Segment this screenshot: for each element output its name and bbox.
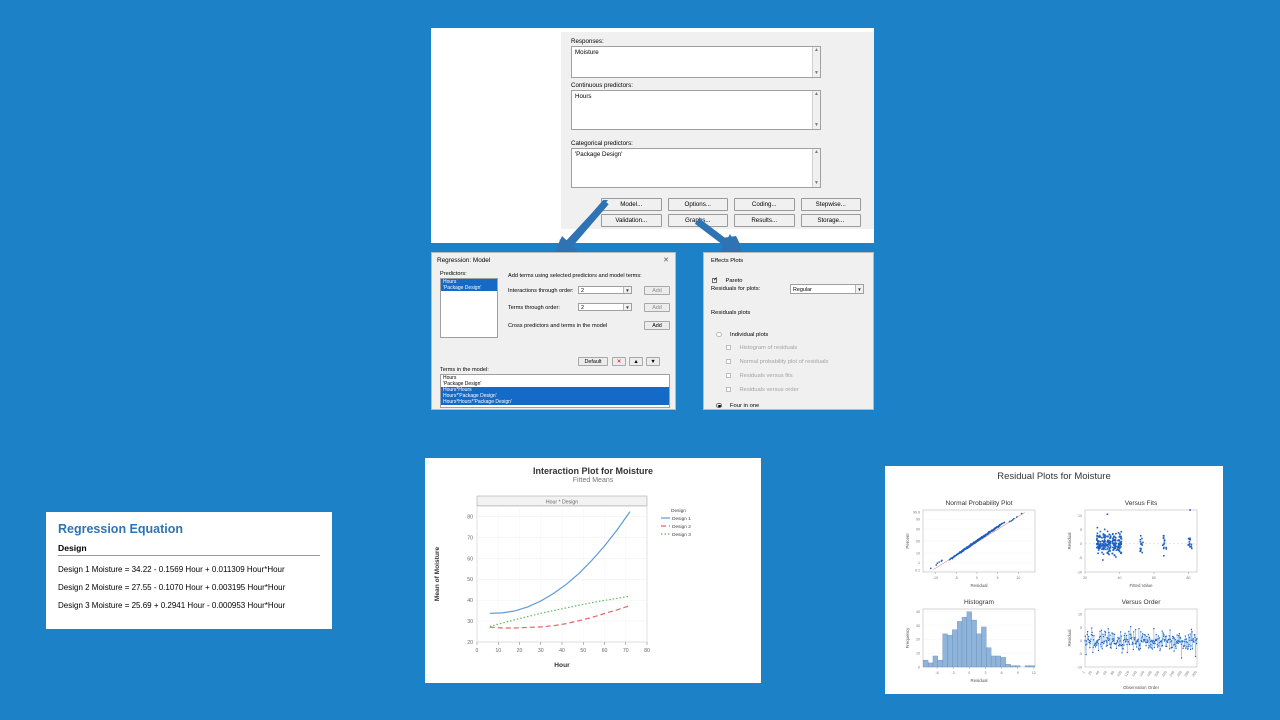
svg-text:Normal Probability Plot: Normal Probability Plot <box>945 500 1012 507</box>
svg-text:20: 20 <box>1087 670 1093 676</box>
svg-text:-10: -10 <box>933 576 938 580</box>
cross-predictors-label: Cross predictors and terms in the model <box>508 323 607 329</box>
svg-text:80: 80 <box>644 648 650 654</box>
responses-label: Responses: <box>571 38 821 45</box>
regression-equation-line: Design 3 Moisture = 25.69 + 0.2941 Hour … <box>58 601 320 610</box>
svg-text:120: 120 <box>1124 670 1131 677</box>
predictor-item-package-design[interactable]: 'Package Design' <box>441 285 497 291</box>
add-interactions-button[interactable]: Add <box>644 286 670 295</box>
svg-text:-5: -5 <box>1079 652 1082 656</box>
svg-text:30: 30 <box>467 619 473 625</box>
svg-text:20: 20 <box>517 648 523 654</box>
stepwise-button[interactable]: Stepwise... <box>801 198 862 211</box>
svg-text:Percent: Percent <box>905 533 910 549</box>
svg-text:180: 180 <box>1146 670 1153 677</box>
terms-through-order-select[interactable]: 2 ▼ <box>578 303 632 311</box>
interactions-through-order-label: Interactions through order: <box>508 288 574 294</box>
regression-equation-line: Design 1 Moisture = 34.22 - 0.1569 Hour … <box>58 565 320 574</box>
svg-text:-3: -3 <box>952 671 955 675</box>
svg-text:260: 260 <box>1176 670 1183 677</box>
regression-equation-subheader: Design <box>58 543 320 556</box>
svg-text:60: 60 <box>1102 670 1108 676</box>
regression-model-dialog: Regression: Model ✕ Predictors: Hours 'P… <box>431 252 676 410</box>
svg-text:40: 40 <box>559 648 565 654</box>
arrow-model-to-model-dialog <box>530 198 610 260</box>
svg-text:Fitted Value: Fitted Value <box>1129 583 1153 588</box>
svg-text:60: 60 <box>1152 576 1156 580</box>
svg-text:200: 200 <box>1154 670 1161 677</box>
regression-equation-card: Regression Equation Design Design 1 Mois… <box>42 512 332 629</box>
svg-text:Design: Design <box>671 508 686 514</box>
interactions-through-order-value: 2 <box>581 288 584 294</box>
svg-text:30: 30 <box>538 648 544 654</box>
svg-text:0: 0 <box>968 671 970 675</box>
regression-model-dialog-title: Regression: Model <box>437 257 490 264</box>
svg-text:Hour * Design: Hour * Design <box>546 500 578 506</box>
residual-plots-title: Residual Plots for Moisture <box>885 471 1223 482</box>
svg-text:1: 1 <box>1081 670 1085 674</box>
interaction-plot-subtitle: Fitted Means <box>425 477 761 484</box>
add-cross-button[interactable]: Add <box>644 321 670 330</box>
svg-text:40: 40 <box>916 610 920 614</box>
svg-text:5: 5 <box>1080 528 1082 532</box>
svg-text:99: 99 <box>916 517 920 521</box>
pareto-checkbox-row[interactable]: Pareto <box>712 269 743 287</box>
svg-text:10: 10 <box>495 648 501 654</box>
svg-text:60: 60 <box>602 648 608 654</box>
chevron-down-icon[interactable]: ▼ <box>623 287 631 293</box>
chevron-down-icon[interactable]: ▼ <box>623 304 631 310</box>
responses-field-group: Responses: Moisture ▲ ▼ <box>571 38 821 78</box>
responses-scrollbar[interactable]: ▲ ▼ <box>812 47 820 77</box>
svg-text:Versus Order: Versus Order <box>1122 599 1162 606</box>
svg-text:140: 140 <box>1131 670 1138 677</box>
svg-text:-5: -5 <box>1079 556 1082 560</box>
svg-text:Frequency: Frequency <box>905 627 910 649</box>
svg-text:20: 20 <box>1083 576 1087 580</box>
svg-text:0: 0 <box>476 648 479 654</box>
regression-equation-title: Regression Equation <box>58 522 320 536</box>
continuous-predictors-field-group: Continuous predictors: Hours ▲ ▼ <box>571 82 821 130</box>
scroll-up-icon[interactable]: ▲ <box>814 149 819 156</box>
residual-plots-panel: Residual Plots for Moisture Normal Proba… <box>885 466 1223 694</box>
pareto-label: Pareto <box>725 278 742 284</box>
svg-text:5: 5 <box>997 576 999 580</box>
svg-text:50: 50 <box>916 539 920 543</box>
svg-text:30: 30 <box>916 624 920 628</box>
svg-text:70: 70 <box>623 648 629 654</box>
svg-text:12: 12 <box>1032 671 1036 675</box>
add-terms-order-button[interactable]: Add <box>644 303 670 312</box>
predictors-label: Predictors: <box>440 271 467 277</box>
svg-text:240: 240 <box>1169 670 1176 677</box>
svg-text:10: 10 <box>1016 576 1020 580</box>
residual-plots-svg: Normal Probability Plot0.111050909999.9-… <box>885 484 1223 692</box>
options-button[interactable]: Options... <box>668 198 729 211</box>
svg-text:Residual: Residual <box>970 583 987 588</box>
svg-text:Residual: Residual <box>1067 629 1072 646</box>
residuals-for-plots-value: Regular <box>793 287 812 293</box>
regression-equation-line: Design 2 Moisture = 27.55 - 0.1070 Hour … <box>58 583 320 592</box>
svg-text:70: 70 <box>467 535 473 541</box>
svg-text:10: 10 <box>916 651 920 655</box>
svg-text:60: 60 <box>467 556 473 562</box>
interaction-plot-title: Interaction Plot for Moisture <box>425 466 761 476</box>
terms-in-model-listbox[interactable]: Hours 'Package Design' Hours*Hours Hours… <box>440 374 670 408</box>
residuals-for-plots-select[interactable]: Regular ▼ <box>790 284 864 294</box>
checkbox-icon <box>726 387 731 392</box>
continuous-predictors-value: Hours <box>575 93 592 100</box>
radio-icon[interactable] <box>716 403 722 409</box>
effects-plots-label: Effects Plots <box>711 258 743 264</box>
close-icon[interactable]: ✕ <box>663 256 669 264</box>
svg-text:Design 1: Design 1 <box>672 516 691 522</box>
four-in-one-radio-row[interactable]: Four in one <box>716 394 759 412</box>
svg-text:Versus Fits: Versus Fits <box>1125 500 1158 507</box>
svg-text:Hour: Hour <box>554 662 570 669</box>
add-terms-label: Add terms using selected predictors and … <box>508 273 642 279</box>
svg-text:50: 50 <box>580 648 586 654</box>
svg-text:-6: -6 <box>935 671 938 675</box>
term-item-hours-hours-package-design[interactable]: Hours*Hours*'Package Design' <box>441 399 669 405</box>
svg-text:160: 160 <box>1139 670 1146 677</box>
terms-through-order-value: 2 <box>581 305 584 311</box>
move-up-button[interactable]: ▲ <box>629 357 643 366</box>
svg-text:Design 2: Design 2 <box>672 524 691 530</box>
svg-text:3: 3 <box>984 671 986 675</box>
scroll-down-icon[interactable]: ▼ <box>814 122 819 129</box>
svg-text:Observation Order: Observation Order <box>1123 685 1160 690</box>
scroll-down-icon[interactable]: ▼ <box>814 70 819 77</box>
validation-button[interactable]: Validation... <box>601 214 662 227</box>
delete-term-button[interactable]: ✕ <box>612 357 626 366</box>
svg-text:80: 80 <box>1186 576 1190 580</box>
svg-text:5: 5 <box>1080 626 1082 630</box>
scroll-up-icon[interactable]: ▲ <box>814 91 819 98</box>
svg-text:Design 3: Design 3 <box>672 532 691 538</box>
svg-text:0: 0 <box>1080 639 1082 643</box>
categorical-predictors-scrollbar[interactable]: ▲ ▼ <box>812 149 820 187</box>
svg-text:Residual: Residual <box>1067 532 1072 549</box>
regression-dialog: Responses: Moisture ▲ ▼ Continuous predi… <box>431 28 874 243</box>
scroll-up-icon[interactable]: ▲ <box>814 47 819 54</box>
svg-text:0: 0 <box>1080 542 1082 546</box>
continuous-predictors-scrollbar[interactable]: ▲ ▼ <box>812 91 820 129</box>
categorical-predictors-input[interactable]: 'Package Design' ▲ ▼ <box>571 148 821 188</box>
svg-text:9: 9 <box>1017 671 1019 675</box>
svg-text:20: 20 <box>916 638 920 642</box>
svg-text:50: 50 <box>467 577 473 583</box>
scroll-down-icon[interactable]: ▼ <box>814 180 819 187</box>
continuous-predictors-input[interactable]: Hours ▲ ▼ <box>571 90 821 130</box>
svg-text:40: 40 <box>1117 576 1121 580</box>
chevron-down-icon[interactable]: ▼ <box>855 285 863 293</box>
interaction-plot-panel: Interaction Plot for Moisture Fitted Mea… <box>425 458 761 683</box>
svg-text:Mean of Moisture: Mean of Moisture <box>434 547 441 602</box>
svg-text:80: 80 <box>467 514 473 520</box>
interaction-plot-svg: Hour * Design203040506070800102030405060… <box>425 490 761 680</box>
svg-text:280: 280 <box>1184 670 1191 677</box>
categorical-predictors-label: Categorical predictors: <box>571 140 821 147</box>
residuals-for-plots-label: Residuals for plots: <box>711 286 760 292</box>
svg-text:80: 80 <box>1110 670 1116 676</box>
svg-text:40: 40 <box>1095 670 1101 676</box>
terms-in-model-label: Terms in the model: <box>440 367 489 373</box>
four-in-one-label: Four in one <box>730 403 759 409</box>
categorical-predictors-value: 'Package Design' <box>575 151 622 158</box>
categorical-predictors-field-group: Categorical predictors: 'Package Design'… <box>571 140 821 188</box>
storage-button[interactable]: Storage... <box>801 214 862 227</box>
terms-through-order-label: Terms through order: <box>508 305 560 311</box>
model-button[interactable]: Model... <box>601 198 662 211</box>
svg-text:0: 0 <box>976 576 978 580</box>
svg-text:10: 10 <box>1078 514 1082 518</box>
predictors-listbox[interactable]: Hours 'Package Design' <box>440 278 498 338</box>
checkbox-icon[interactable] <box>712 278 717 283</box>
svg-text:100: 100 <box>1116 670 1123 677</box>
svg-text:Histogram: Histogram <box>964 599 995 606</box>
svg-text:40: 40 <box>467 598 473 604</box>
svg-text:90: 90 <box>916 527 920 531</box>
svg-text:220: 220 <box>1161 670 1168 677</box>
responses-input[interactable]: Moisture ▲ ▼ <box>571 46 821 78</box>
svg-text:0: 0 <box>918 665 920 669</box>
residuals-versus-order-label: Residuals versus order <box>739 387 798 393</box>
svg-text:1: 1 <box>918 561 920 565</box>
svg-text:10: 10 <box>1078 613 1082 617</box>
radio-icon[interactable] <box>716 332 722 338</box>
regression-graphs-dialog: Effects Plots Pareto Residuals for plots… <box>703 252 874 410</box>
svg-text:10: 10 <box>916 551 920 555</box>
default-button[interactable]: Default <box>578 357 608 366</box>
svg-text:0.1: 0.1 <box>915 568 920 572</box>
continuous-predictors-label: Continuous predictors: <box>571 82 821 89</box>
svg-text:20: 20 <box>467 640 473 646</box>
residuals-plots-label: Residuals plots <box>711 310 750 316</box>
svg-text:6: 6 <box>1001 671 1003 675</box>
svg-text:Residual: Residual <box>970 678 987 683</box>
svg-text:300: 300 <box>1191 670 1198 677</box>
svg-text:-5: -5 <box>955 576 958 580</box>
svg-text:99.9: 99.9 <box>913 510 920 514</box>
responses-value: Moisture <box>575 49 599 56</box>
interactions-through-order-select[interactable]: 2 ▼ <box>578 286 632 294</box>
svg-text:-10: -10 <box>1077 570 1082 574</box>
move-down-button[interactable]: ▼ <box>646 357 660 366</box>
svg-text:-10: -10 <box>1077 665 1082 669</box>
coding-button[interactable]: Coding... <box>734 198 795 211</box>
